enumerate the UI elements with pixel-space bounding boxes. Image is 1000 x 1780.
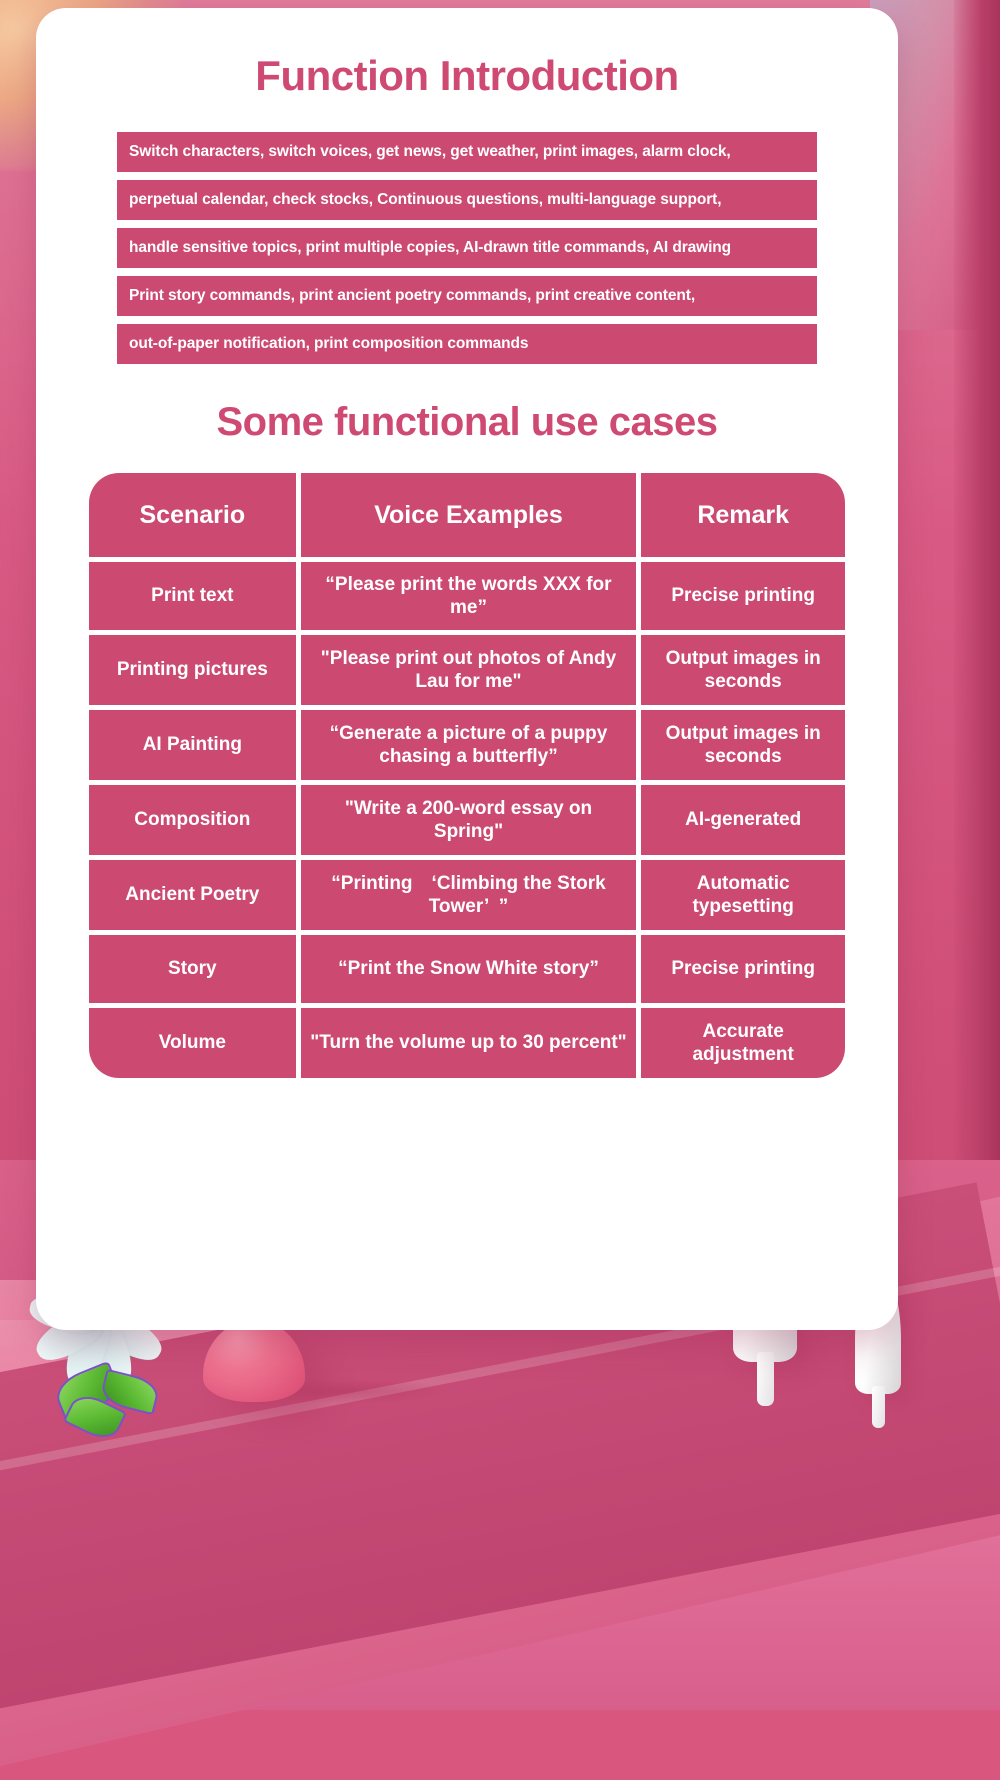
feature-bar: out-of-paper notification, print composi… xyxy=(117,324,817,364)
cell-remark: Precise printing xyxy=(641,935,845,1003)
cell-voice: “Printing ‘Climbing the Stork Tower’ ” xyxy=(301,860,637,930)
table-row: Story “Print the Snow White story” Preci… xyxy=(89,935,845,1003)
cell-voice: “Generate a picture of a puppy chasing a… xyxy=(301,710,637,780)
table-row: Printing pictures "Please print out phot… xyxy=(89,635,845,705)
feature-bar: handle sensitive topics, print multiple … xyxy=(117,228,817,268)
cell-scenario: Composition xyxy=(89,785,296,855)
feature-list: Switch characters, switch voices, get ne… xyxy=(117,132,817,364)
cell-remark: Output images in seconds xyxy=(641,710,845,780)
table-row: Print text “Please print the words XXX f… xyxy=(89,562,845,630)
background-right-edge xyxy=(954,0,1000,1340)
content-card: Function Introduction Switch characters,… xyxy=(36,8,898,1330)
cone-large-stem xyxy=(757,1352,774,1406)
cell-voice: "Please print out photos of Andy Lau for… xyxy=(301,635,637,705)
cell-scenario: Print text xyxy=(89,562,296,630)
cell-remark: Output images in seconds xyxy=(641,635,845,705)
page-title: Function Introduction xyxy=(36,52,898,100)
cone-small-stem xyxy=(872,1386,885,1428)
cell-voice: “Print the Snow White story” xyxy=(301,935,637,1003)
table-row: Volume "Turn the volume up to 30 percent… xyxy=(89,1008,845,1078)
feature-bar: Switch characters, switch voices, get ne… xyxy=(117,132,817,172)
feature-bar: Print story commands, print ancient poet… xyxy=(117,276,817,316)
table-body: Print text “Please print the words XXX f… xyxy=(89,562,845,1078)
table-row: AI Painting “Generate a picture of a pup… xyxy=(89,710,845,780)
cell-remark: Precise printing xyxy=(641,562,845,630)
section-title: Some functional use cases xyxy=(36,400,898,445)
cell-remark: Automatic typesetting xyxy=(641,860,845,930)
table-header-row: Scenario Voice Examples Remark xyxy=(89,473,845,557)
use-cases-table: Scenario Voice Examples Remark Print tex… xyxy=(89,473,845,1078)
cell-scenario: Story xyxy=(89,935,296,1003)
table-header-remark: Remark xyxy=(641,473,845,557)
cell-remark: AI-generated xyxy=(641,785,845,855)
cell-scenario: AI Painting xyxy=(89,710,296,780)
table-row: Ancient Poetry “Printing ‘Climbing the S… xyxy=(89,860,845,930)
feature-bar: perpetual calendar, check stocks, Contin… xyxy=(117,180,817,220)
cell-voice: “Please print the words XXX for me” xyxy=(301,562,637,630)
cell-remark: Accurate adjustment xyxy=(641,1008,845,1078)
table-header: Scenario Voice Examples Remark xyxy=(89,473,845,557)
table-row: Composition "Write a 200-word essay on S… xyxy=(89,785,845,855)
cell-scenario: Volume xyxy=(89,1008,296,1078)
cell-scenario: Ancient Poetry xyxy=(89,860,296,930)
cell-voice: "Turn the volume up to 30 percent" xyxy=(301,1008,637,1078)
table-header-scenario: Scenario xyxy=(89,473,296,557)
cell-voice: "Write a 200-word essay on Spring" xyxy=(301,785,637,855)
table-header-voice: Voice Examples xyxy=(301,473,637,557)
cell-scenario: Printing pictures xyxy=(89,635,296,705)
